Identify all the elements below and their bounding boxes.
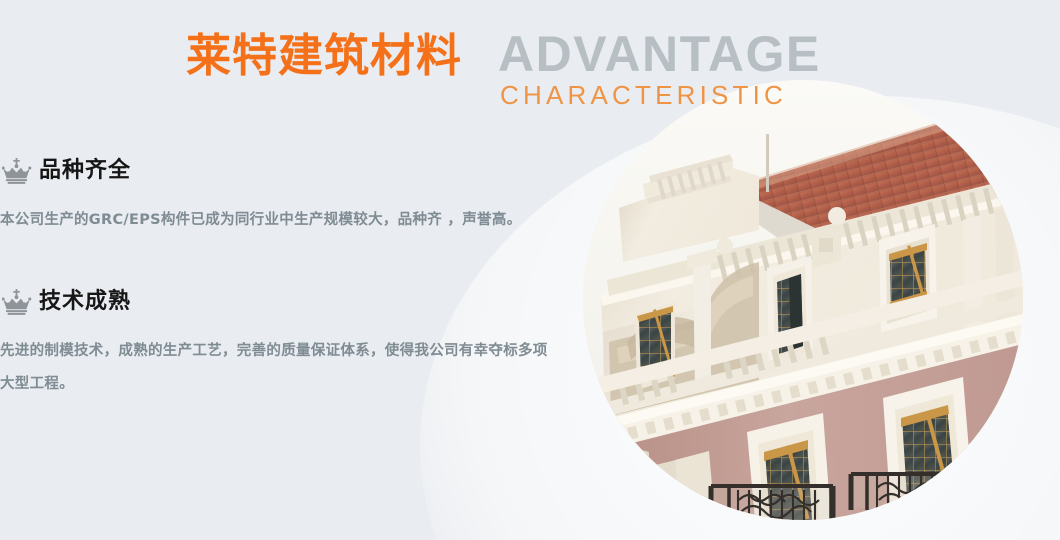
advantage-banner: ADVANTAGE 莱特建筑材料 CHARACTERISTIC bbox=[0, 0, 1060, 540]
headline-cn-title: 莱特建筑材料 bbox=[186, 28, 462, 84]
feature-list: 品种齐全 本公司生产的GRC/EPS构件已成为同行业中生产规模较大，品种齐 ，声… bbox=[0, 150, 570, 445]
crown-icon bbox=[2, 158, 32, 184]
feature-item-2: 技术成熟 先进的制模技术，成熟的生产工艺，完善的质量保证体系，使得我公司有幸夺标… bbox=[0, 281, 570, 401]
feature-item-1: 品种齐全 本公司生产的GRC/EPS构件已成为同行业中生产规模较大，品种齐 ，声… bbox=[0, 150, 570, 237]
feature-body-1: 本公司生产的GRC/EPS构件已成为同行业中生产规模较大，品种齐 ，声誉高。 bbox=[0, 204, 552, 237]
headline-en-subtitle: CHARACTERISTIC bbox=[500, 80, 787, 110]
headline-en-title: ADVANTAGE bbox=[498, 24, 821, 84]
feature-body-2: 先进的制模技术，成熟的生产工艺，完善的质量保证体系，使得我公司有幸夺标多项大型工… bbox=[0, 335, 552, 401]
feature-title-1: 品种齐全 bbox=[39, 156, 131, 186]
feature-heading-2: 技术成熟 bbox=[0, 281, 570, 323]
european-style-villa-facade-photo bbox=[583, 80, 1023, 520]
crown-icon bbox=[2, 289, 32, 315]
feature-heading-1: 品种齐全 bbox=[0, 150, 570, 192]
feature-title-2: 技术成熟 bbox=[39, 287, 131, 317]
